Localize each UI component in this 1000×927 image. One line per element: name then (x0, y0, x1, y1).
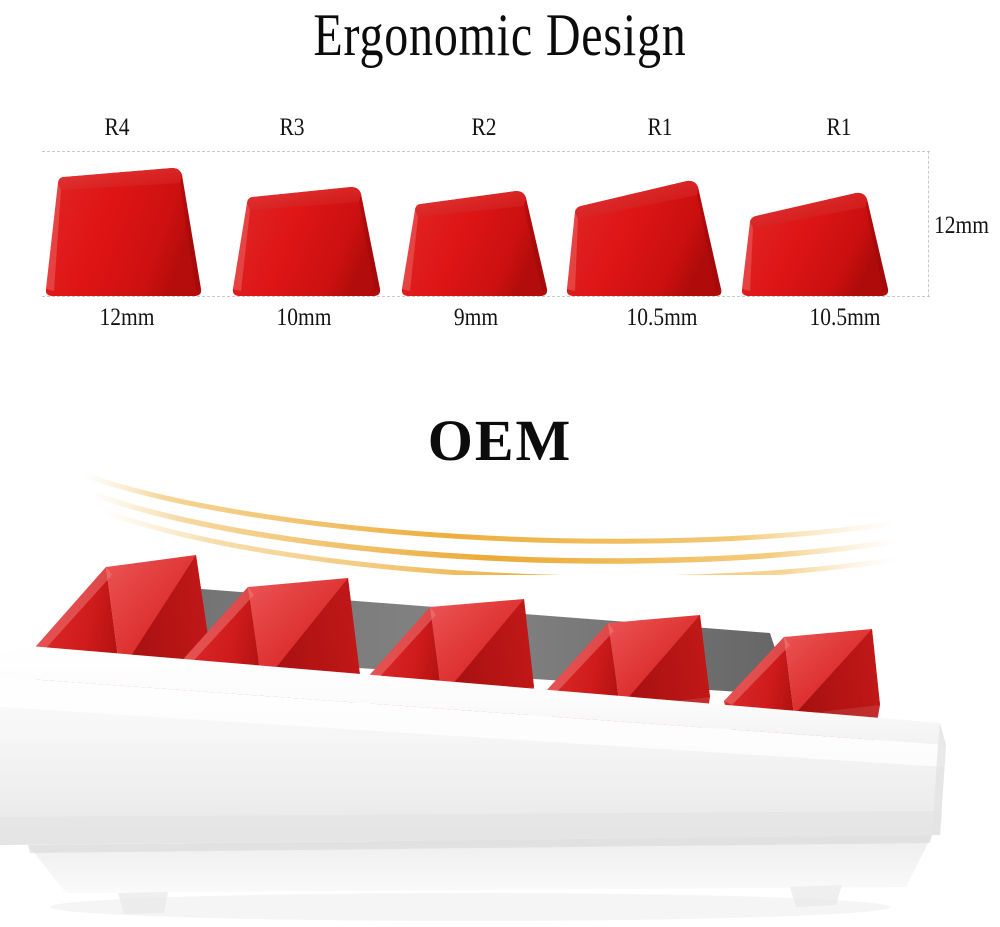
width-label-r1-b: 10.5mm (776, 304, 914, 332)
row-label-r2: R2 (432, 114, 535, 142)
keycap-profile-spec: R4 R3 R2 R1 R1 12mm (0, 0, 1000, 345)
width-label-r4: 12mm (67, 304, 187, 332)
guide-line-right (928, 151, 929, 297)
height-label-12mm: 12mm (934, 212, 989, 240)
keyboard-product-photo (0, 545, 1000, 927)
width-label-r2: 9mm (416, 304, 536, 332)
row-label-r3: R3 (240, 114, 343, 142)
width-label-r1-a: 10.5mm (593, 304, 731, 332)
guide-line-top (42, 151, 930, 152)
row-label-r1-b: R1 (787, 114, 890, 142)
row-label-r4: R4 (65, 114, 168, 142)
width-label-r3: 10mm (244, 304, 364, 332)
row-label-r1-a: R1 (608, 114, 711, 142)
